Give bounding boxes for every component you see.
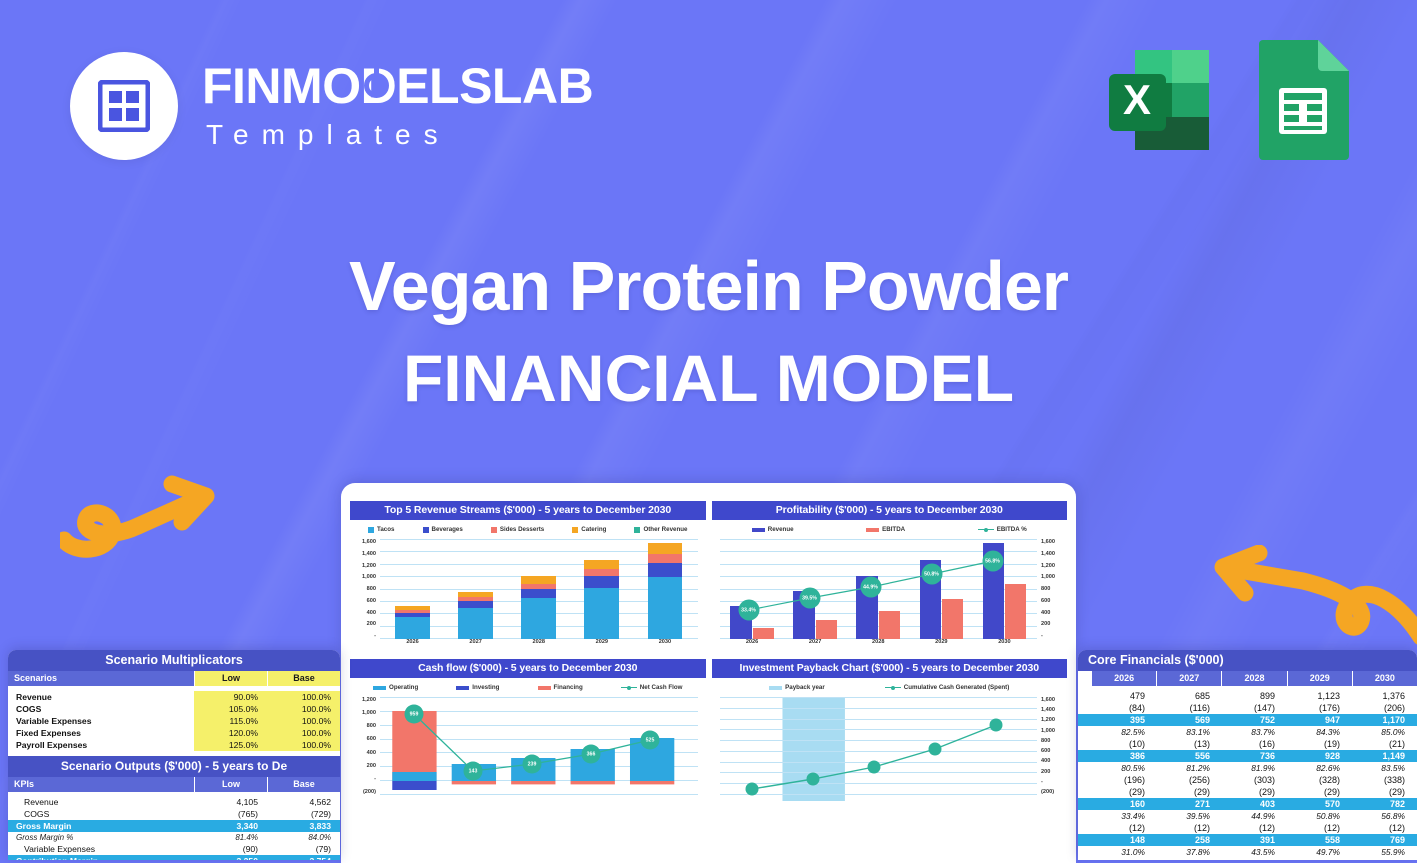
table-row[interactable]: (196)(256)(303)(328)(338) xyxy=(1078,774,1417,786)
legend-item: Sides Desserts xyxy=(491,526,544,533)
scenario-multiplicators-panel[interactable]: Scenario Multiplicators Scenarios Low Ba… xyxy=(8,650,340,860)
app-icons-group: X xyxy=(1095,36,1349,164)
table-row[interactable]: Gross Margin3,3403,833 xyxy=(8,820,340,832)
bar-series xyxy=(381,539,697,639)
data-point xyxy=(806,773,819,786)
table-row[interactable]: (10)(13)(16)(19)(21) xyxy=(1078,738,1417,750)
legend-item: Payback year xyxy=(769,684,825,691)
table-row[interactable]: COGS105.0%100.0% xyxy=(8,703,340,715)
bar-stack xyxy=(521,576,556,639)
kpi-header-label: KPIs xyxy=(8,777,194,792)
chart-legend-cash-flow: Operating Investing Financing Net Cash F… xyxy=(350,678,706,695)
table-row[interactable]: 31.0%37.8%43.5%49.7%55.9% xyxy=(1078,846,1417,858)
data-label-bubble: 959 xyxy=(405,705,424,724)
kpi-header-low: Low xyxy=(194,777,267,792)
brand-logo: FINMODELSLAB Templates xyxy=(70,52,593,160)
bar-stack xyxy=(648,543,683,639)
chart-legend-investment-payback: Payback year Cumulative Cash Generated (… xyxy=(712,678,1068,695)
bar-stack xyxy=(395,606,430,639)
data-point xyxy=(989,719,1002,732)
svg-text:X: X xyxy=(1123,76,1151,123)
data-label-bubble: 239 xyxy=(523,755,542,774)
chart-plot-investment-payback: 1,600 1,400 1,200 1,000 800 600 400 200 … xyxy=(716,697,1064,807)
data-label-bubble: 33.4% xyxy=(738,600,759,621)
data-label-bubble: 39.5% xyxy=(799,588,820,609)
table-row[interactable]: Variable Expenses115.0%100.0% xyxy=(8,715,340,727)
data-label-bubble: 56.8% xyxy=(982,551,1003,572)
table-row[interactable]: Revenue90.0%100.0% xyxy=(8,691,340,703)
logo-circle xyxy=(70,52,178,160)
data-point xyxy=(745,783,758,796)
scenario-outputs-header: KPIs Low Base xyxy=(8,777,340,792)
grid-squares-icon xyxy=(98,80,150,132)
bar-stack xyxy=(584,560,619,639)
page-title: Vegan Protein Powder xyxy=(0,246,1417,326)
scenario-panel-title: Scenario Multiplicators xyxy=(8,650,340,671)
chart-panel-revenue-streams[interactable]: Top 5 Revenue Streams ($'000) - 5 years … xyxy=(350,501,706,651)
table-row[interactable]: 160271403570782 xyxy=(1078,798,1417,810)
legend-item: Cumulative Cash Generated (Spent) xyxy=(885,684,1010,691)
x-axis-labels: 2026 2027 2028 2029 2030 xyxy=(381,639,697,651)
chart-legend-profitability: Revenue EBITDA EBITDA % xyxy=(712,520,1068,537)
scenario-header-base: Base xyxy=(267,671,340,686)
legend-item: EBITDA % xyxy=(978,526,1027,533)
table-row[interactable]: 3865567369281,149 xyxy=(1078,750,1417,762)
legend-item: Operating xyxy=(373,684,418,691)
table-row[interactable]: (12)(12)(12)(12)(12) xyxy=(1078,822,1417,834)
legend-item: Financing xyxy=(538,684,583,691)
legend-item: Other Revenue xyxy=(634,526,687,533)
table-row[interactable]: Fixed Expenses120.0%100.0% xyxy=(8,727,340,739)
scenario-header-low: Low xyxy=(194,671,267,686)
y-axis-labels: 1,600 1,400 1,200 1,000 800 600 400 200 … xyxy=(354,539,378,639)
curved-arrow-left-icon xyxy=(1193,545,1417,665)
table-row[interactable]: 80.5%81.2%81.9%82.6%83.5% xyxy=(1078,762,1417,774)
core-panel-title: Core Financials ($'000) xyxy=(1078,650,1417,671)
microsoft-excel-icon: X xyxy=(1095,36,1223,164)
year-header: 2030 xyxy=(1352,671,1417,686)
brand-name: FINMODELSLAB xyxy=(202,61,593,111)
chart-legend-revenue-streams: Tacos Beverages Sides Desserts Catering … xyxy=(350,520,706,537)
x-axis-labels: 2026 2027 2028 2029 2030 xyxy=(721,639,1037,651)
scenario-table-header: Scenarios Low Base xyxy=(8,671,340,686)
legend-item: Beverages xyxy=(423,526,463,533)
legend-item: Tacos xyxy=(368,526,394,533)
year-header: 2028 xyxy=(1221,671,1286,686)
grid-lines xyxy=(720,697,1038,795)
scenario-header-label: Scenarios xyxy=(8,671,194,686)
table-row[interactable]: 4796858991,1231,376 xyxy=(1078,690,1417,702)
y-axis-labels: 1,600 1,400 1,200 1,000 800 600 400 200 … xyxy=(1039,697,1063,795)
table-row[interactable]: 3955697529471,170 xyxy=(1078,714,1417,726)
chart-title-revenue-streams: Top 5 Revenue Streams ($'000) - 5 years … xyxy=(350,501,706,520)
chart-panel-investment-payback[interactable]: Investment Payback Chart ($'000) - 5 yea… xyxy=(712,659,1068,807)
legend-item: Net Cash Flow xyxy=(621,684,683,691)
table-row[interactable]: (84)(116)(147)(176)(206) xyxy=(1078,702,1417,714)
data-label-bubble: 366 xyxy=(582,745,601,764)
data-label-bubble: 143 xyxy=(464,762,483,781)
power-icon-stem xyxy=(374,67,379,80)
dashboard-preview[interactable]: Top 5 Revenue Streams ($'000) - 5 years … xyxy=(341,483,1076,863)
data-label-bubble: 44.9% xyxy=(860,577,881,598)
year-header: 2027 xyxy=(1156,671,1221,686)
chart-title-investment-payback: Investment Payback Chart ($'000) - 5 yea… xyxy=(712,659,1068,678)
legend-item: Catering xyxy=(572,526,606,533)
core-table-header: 2026 2027 2028 2029 2030 xyxy=(1092,671,1417,686)
chart-plot-revenue-streams: 1,600 1,400 1,200 1,000 800 600 400 200 … xyxy=(354,539,702,651)
scenario-outputs-title: Scenario Outputs ($'000) - 5 years to De xyxy=(8,756,340,777)
brand-name-text: FINMODELSLAB xyxy=(202,58,593,114)
chart-plot-cash-flow: 1,200 1,000 800 600 400 200 - (200) xyxy=(354,697,702,807)
data-point xyxy=(928,743,941,756)
table-row[interactable]: 82.5%83.1%83.7%84.3%85.0% xyxy=(1078,726,1417,738)
data-label-bubble: 50.8% xyxy=(921,564,942,585)
table-row[interactable]: Variable Expenses(90)(79) xyxy=(8,843,340,855)
table-row[interactable]: Contribution Margin3,2503,754 xyxy=(8,855,340,860)
table-row[interactable]: Revenue4,1054,562 xyxy=(8,796,340,808)
legend-item: Investing xyxy=(456,684,499,691)
legend-item: EBITDA xyxy=(866,526,905,533)
chart-title-profitability: Profitability ($'000) - 5 years to Decem… xyxy=(712,501,1068,520)
kpi-header-base: Base xyxy=(267,777,340,792)
page-subtitle: FINANCIAL MODEL xyxy=(0,340,1417,416)
table-row[interactable]: 148258391558769 xyxy=(1078,834,1417,846)
table-row[interactable]: COGS(765)(729) xyxy=(8,808,340,820)
core-financials-panel[interactable]: Core Financials ($'000) 2026 2027 2028 2… xyxy=(1078,650,1417,860)
table-row[interactable]: 33.4%39.5%44.9%50.8%56.8% xyxy=(1078,810,1417,822)
data-point xyxy=(867,761,880,774)
table-row[interactable]: Payroll Expenses125.0%100.0% xyxy=(8,739,340,751)
legend-item: Revenue xyxy=(752,526,794,533)
table-row[interactable]: Gross Margin %81.4%84.0% xyxy=(8,832,340,843)
google-sheets-icon xyxy=(1257,36,1349,160)
y-axis-labels: 1,200 1,000 800 600 400 200 - (200) xyxy=(354,697,378,795)
curved-arrow-right-icon xyxy=(60,448,225,563)
year-header: 2029 xyxy=(1287,671,1352,686)
chart-panel-cash-flow[interactable]: Cash flow ($'000) - 5 years to December … xyxy=(350,659,706,807)
chart-title-cash-flow: Cash flow ($'000) - 5 years to December … xyxy=(350,659,706,678)
year-header: 2026 xyxy=(1092,671,1156,686)
chart-panel-profitability[interactable]: Profitability ($'000) - 5 years to Decem… xyxy=(712,501,1068,651)
y-axis-labels: 1,600 1,400 1,200 1,000 800 600 400 200 … xyxy=(1039,539,1063,639)
brand-tagline: Templates xyxy=(202,119,593,151)
data-label-bubble: 525 xyxy=(641,731,660,750)
chart-plot-profitability: 1,600 1,400 1,200 1,000 800 600 400 200 … xyxy=(716,539,1064,651)
bar-stack xyxy=(458,592,493,639)
table-row[interactable]: (29)(29)(29)(29)(29) xyxy=(1078,786,1417,798)
